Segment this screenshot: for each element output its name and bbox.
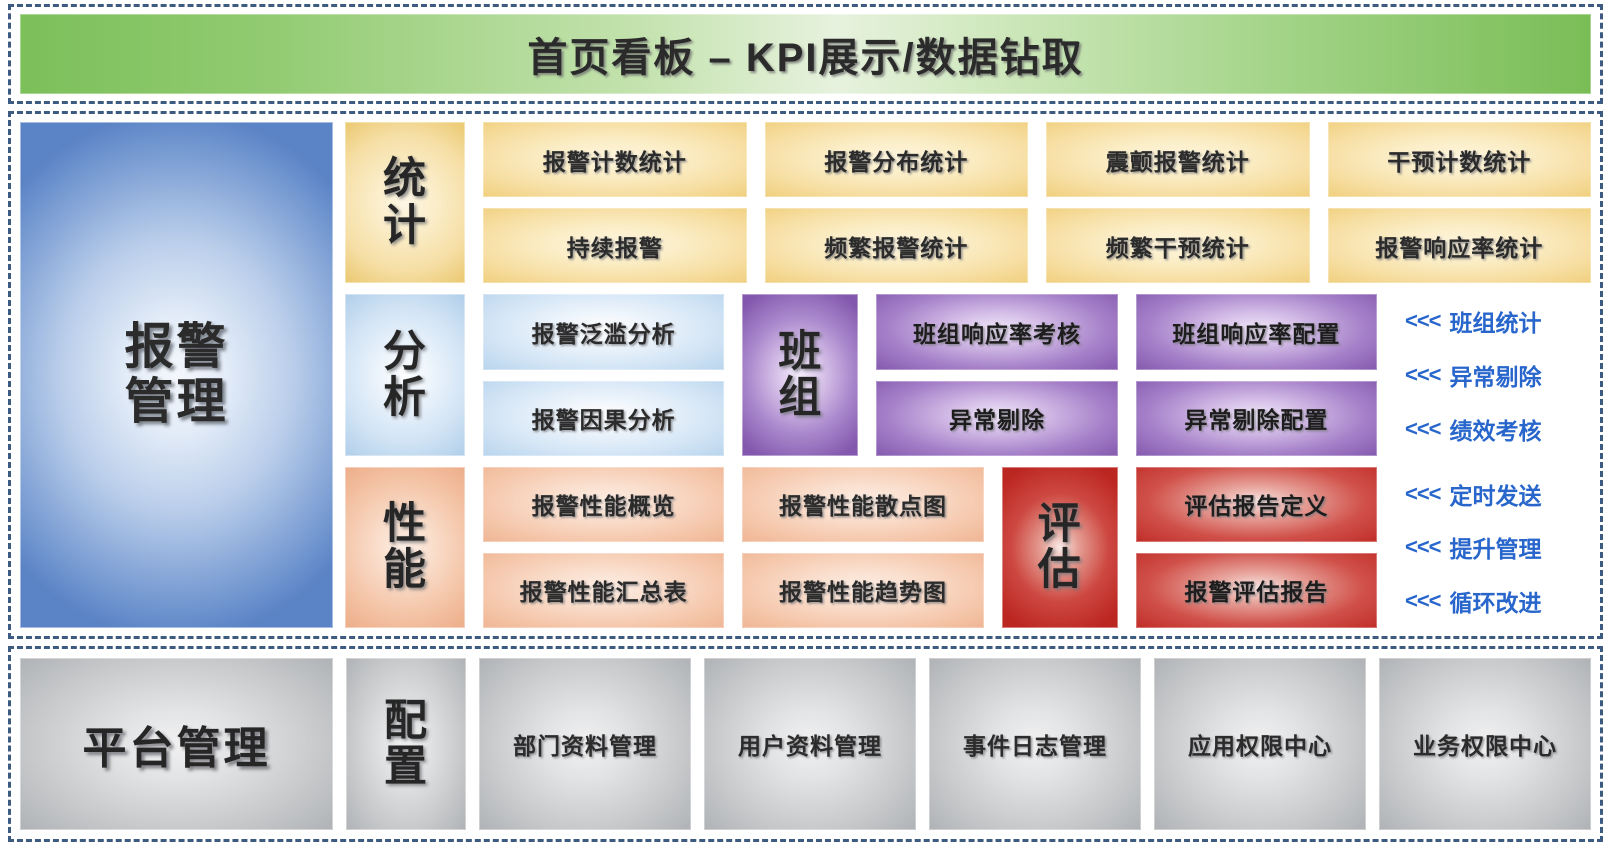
tile-label: 异常剔除配置	[1184, 401, 1328, 435]
category-chip-label: 统 计	[383, 156, 427, 249]
tile-label: 评估报告定义	[1184, 487, 1328, 521]
page-title: 首页看板 – KPI展示/数据钻取	[527, 25, 1083, 83]
tile-stack-perf-2: 报警性能散点图 报警性能趋势图	[742, 467, 983, 628]
tile-assessment-report-definition[interactable]: 评估报告定义	[1136, 467, 1377, 542]
arrow-left-icon: <<<	[1405, 416, 1441, 442]
tile-label: 报警性能汇总表	[520, 573, 688, 607]
tile-team-response-rate-config[interactable]: 班组响应率配置	[1136, 294, 1377, 369]
tile-alarm-response-rate-statistics[interactable]: 报警响应率统计	[1328, 208, 1592, 283]
tile-department-profile-management[interactable]: 部门资料管理	[479, 658, 691, 830]
alarm-management-grid: 报警 管理 统 计 报警计数统计 持续报警	[20, 122, 1591, 628]
tile-alarm-causality-analysis[interactable]: 报警因果分析	[483, 381, 724, 456]
tile-label: 业务权限中心	[1413, 727, 1557, 761]
tile-alarm-performance-scatter-chart[interactable]: 报警性能散点图	[742, 467, 983, 542]
category-chip-analysis[interactable]: 分 析	[345, 294, 465, 455]
tile-stack-1: 报警计数统计 持续报警	[483, 122, 747, 283]
tile-alarm-performance-trend-chart[interactable]: 报警性能趋势图	[742, 553, 983, 628]
tile-frequent-intervention-statistics[interactable]: 频繁干预统计	[1046, 208, 1310, 283]
link-performance-assessment[interactable]: <<< 绩效考核	[1405, 412, 1591, 446]
tile-label: 事件日志管理	[963, 727, 1107, 761]
link-label: 循环改进	[1450, 584, 1542, 618]
platform-management-section: 平台管理 配 置 部门资料管理 用户资料管理 事件日志管理 应用权限中心 业务权…	[8, 646, 1603, 842]
tile-label: 用户资料管理	[738, 727, 882, 761]
module-panel-label: 平台管理	[83, 712, 271, 776]
tile-business-permission-center[interactable]: 业务权限中心	[1379, 658, 1591, 830]
category-chip-configuration[interactable]: 配 置	[346, 658, 466, 830]
tile-label: 干预计数统计	[1387, 143, 1531, 177]
category-chip-label: 配 置	[384, 698, 428, 791]
architecture-diagram: 首页看板 – KPI展示/数据钻取 报警 管理 统 计 报警计数统计	[0, 0, 1611, 853]
tile-alarm-count-statistics[interactable]: 报警计数统计	[483, 122, 747, 197]
category-chip-performance[interactable]: 性 能	[345, 467, 465, 628]
link-column-performance: <<< 定时发送 <<< 提升管理 <<< 循环改进	[1395, 467, 1591, 628]
module-panel-label: 报警 管理	[124, 320, 228, 430]
tile-label: 应用权限中心	[1188, 727, 1332, 761]
category-row-statistics: 统 计 报警计数统计 持续报警 报警分布统计	[345, 122, 1591, 283]
tile-continuous-alarm[interactable]: 持续报警	[483, 208, 747, 283]
tile-stack-2: 报警分布统计 频繁报警统计	[765, 122, 1029, 283]
tile-label: 报警性能概览	[532, 487, 676, 521]
tile-label: 报警计数统计	[543, 143, 687, 177]
tile-label: 班组响应率配置	[1172, 315, 1340, 349]
tile-label: 报警分布统计	[824, 143, 968, 177]
tile-event-log-management[interactable]: 事件日志管理	[929, 658, 1141, 830]
category-row-performance: 性 能 报警性能概览 报警性能汇总表 报警性能散点图	[345, 467, 1591, 628]
tile-anomaly-exclusion[interactable]: 异常剔除	[876, 381, 1117, 456]
category-chip-label: 分 析	[383, 329, 427, 422]
link-anomaly-exclusion[interactable]: <<< 异常剔除	[1405, 358, 1591, 392]
tile-label: 班组响应率考核	[913, 315, 1081, 349]
platform-row: 平台管理 配 置 部门资料管理 用户资料管理 事件日志管理 应用权限中心 业务权…	[20, 658, 1591, 830]
tile-alarm-distribution-statistics[interactable]: 报警分布统计	[765, 122, 1029, 197]
tile-label: 持续报警	[567, 229, 663, 263]
tile-alarm-flood-analysis[interactable]: 报警泛滥分析	[483, 294, 724, 369]
link-column-analysis: <<< 班组统计 <<< 异常剔除 <<< 绩效考核	[1395, 294, 1591, 455]
category-chip-label: 班 组	[778, 329, 822, 422]
tile-team-response-rate-assessment[interactable]: 班组响应率考核	[876, 294, 1117, 369]
tile-label: 部门资料管理	[513, 727, 657, 761]
header-banner[interactable]: 首页看板 – KPI展示/数据钻取	[20, 14, 1591, 94]
link-label: 定时发送	[1450, 477, 1542, 511]
link-scheduled-send[interactable]: <<< 定时发送	[1405, 477, 1591, 511]
tile-stack-analysis: 报警泛滥分析 报警因果分析	[483, 294, 724, 455]
category-chip-statistics[interactable]: 统 计	[345, 122, 465, 283]
arrow-left-icon: <<<	[1405, 481, 1441, 507]
arrow-left-icon: <<<	[1405, 362, 1441, 388]
category-chip-label: 评 估	[1038, 501, 1082, 594]
tile-stack-assessment: 评估报告定义 报警评估报告	[1136, 467, 1377, 628]
category-row-analysis: 分 析 报警泛滥分析 报警因果分析 班 组	[345, 294, 1591, 455]
tile-stack-3: 震颤报警统计 频繁干预统计	[1046, 122, 1310, 283]
tile-label: 震颤报警统计	[1106, 143, 1250, 177]
tile-label: 报警泛滥分析	[532, 315, 676, 349]
tile-label: 报警响应率统计	[1375, 229, 1543, 263]
tile-label: 报警评估报告	[1184, 573, 1328, 607]
category-rows: 统 计 报警计数统计 持续报警 报警分布统计	[345, 122, 1591, 628]
tile-intervention-count-statistics[interactable]: 干预计数统计	[1328, 122, 1592, 197]
link-label: 异常剔除	[1450, 358, 1542, 392]
link-continuous-improvement[interactable]: <<< 循环改进	[1405, 584, 1591, 618]
tile-stack-team-2: 班组响应率配置 异常剔除配置	[1136, 294, 1377, 455]
tile-frequent-alarm-statistics[interactable]: 频繁报警统计	[765, 208, 1029, 283]
link-label: 绩效考核	[1450, 412, 1542, 446]
tile-label: 报警性能散点图	[779, 487, 947, 521]
link-label: 班组统计	[1450, 304, 1542, 338]
category-chip-team[interactable]: 班 组	[742, 294, 858, 455]
tile-alarm-performance-overview[interactable]: 报警性能概览	[483, 467, 724, 542]
header-section: 首页看板 – KPI展示/数据钻取	[8, 4, 1603, 104]
tile-label: 频繁干预统计	[1106, 229, 1250, 263]
module-panel-alarm-management[interactable]: 报警 管理	[20, 122, 333, 628]
tile-chattering-alarm-statistics[interactable]: 震颤报警统计	[1046, 122, 1310, 197]
tile-label: 报警性能趋势图	[779, 573, 947, 607]
tile-anomaly-exclusion-config[interactable]: 异常剔除配置	[1136, 381, 1377, 456]
tile-stack-perf-1: 报警性能概览 报警性能汇总表	[483, 467, 724, 628]
tile-user-profile-management[interactable]: 用户资料管理	[704, 658, 916, 830]
module-panel-platform-management[interactable]: 平台管理	[20, 658, 333, 830]
tile-stack-4: 干预计数统计 报警响应率统计	[1328, 122, 1592, 283]
tile-application-permission-center[interactable]: 应用权限中心	[1154, 658, 1366, 830]
arrow-left-icon: <<<	[1405, 534, 1441, 560]
tile-label: 报警因果分析	[532, 401, 676, 435]
arrow-left-icon: <<<	[1405, 588, 1441, 614]
arrow-left-icon: <<<	[1405, 308, 1441, 334]
link-team-statistics[interactable]: <<< 班组统计	[1405, 304, 1591, 338]
link-label: 提升管理	[1450, 530, 1542, 564]
tile-alarm-performance-summary-table[interactable]: 报警性能汇总表	[483, 553, 724, 628]
tile-label: 异常剔除	[949, 401, 1045, 435]
tile-stack-team-1: 班组响应率考核 异常剔除	[876, 294, 1117, 455]
tile-alarm-assessment-report[interactable]: 报警评估报告	[1136, 553, 1377, 628]
tile-label: 频繁报警统计	[824, 229, 968, 263]
alarm-management-section: 报警 管理 统 计 报警计数统计 持续报警	[8, 111, 1603, 639]
category-chip-assessment[interactable]: 评 估	[1002, 467, 1118, 628]
link-improvement-management[interactable]: <<< 提升管理	[1405, 530, 1591, 564]
category-chip-label: 性 能	[383, 501, 427, 594]
